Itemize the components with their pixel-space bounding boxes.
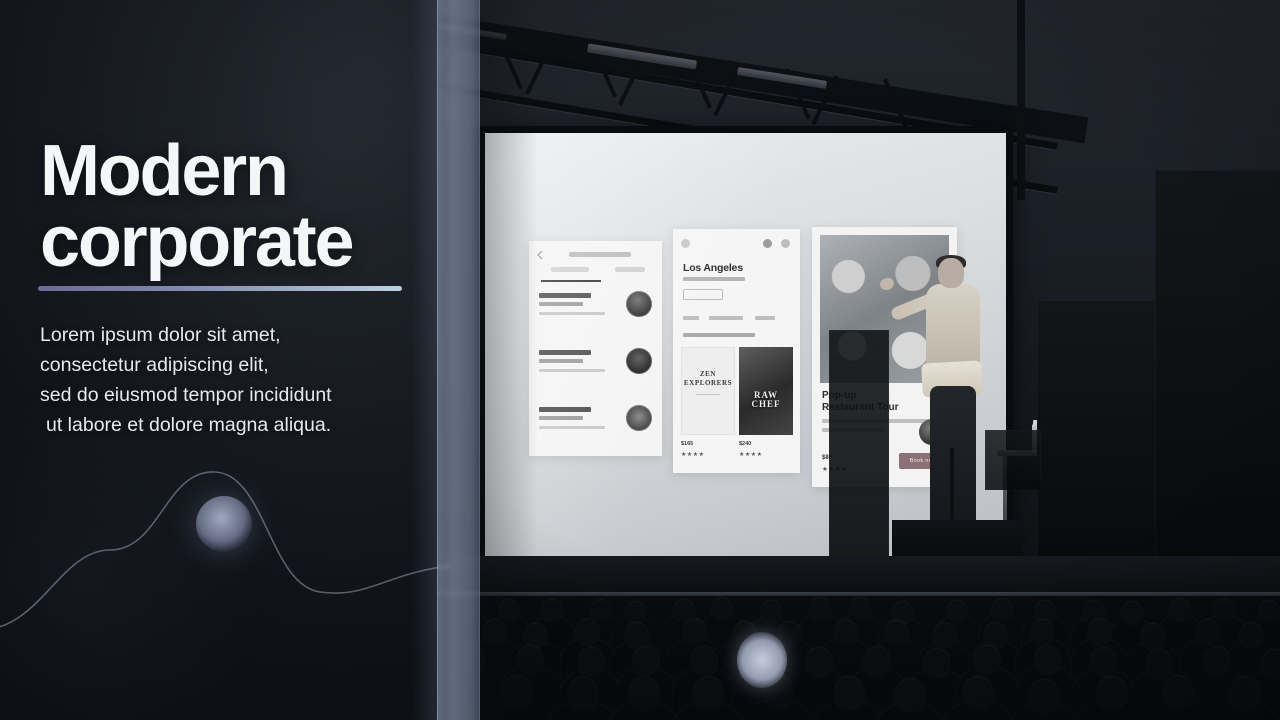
audience-member-head (674, 600, 694, 622)
avatar (626, 348, 652, 374)
avatar (626, 291, 652, 317)
audience-member-head (761, 601, 781, 623)
audience-member-head (933, 623, 956, 649)
chevron-left-icon (537, 250, 543, 260)
stage-monitor (985, 430, 1041, 490)
glass-panel-divider (437, 0, 480, 720)
stage-equipment (1037, 300, 1157, 600)
mock-card-rating: ★★★★ (739, 451, 763, 458)
audience-member-head (591, 600, 611, 622)
audience-member-head (1097, 677, 1127, 711)
audience-member-head (895, 679, 925, 713)
text-panel: Modern corporate Lorem ipsum dolor sit a… (0, 0, 437, 720)
audience-member-head (576, 620, 599, 646)
audience-member-head (1259, 601, 1279, 623)
mock-section-label (683, 333, 755, 337)
audience-member-head (963, 677, 993, 711)
audience-member-head (864, 647, 890, 676)
mock-city-name: Los Angeles (683, 262, 743, 274)
wave-decoration (0, 440, 450, 700)
mock-card-price: $165 (681, 441, 693, 447)
audience-member-head (1204, 647, 1230, 676)
audience-member-head (578, 648, 604, 677)
audience-member-head (1122, 602, 1142, 624)
back-icon (681, 239, 690, 248)
audience-member-head (517, 646, 543, 675)
mock-tab-upcoming (551, 267, 589, 272)
audience-member-head (1240, 623, 1263, 649)
audience-member-head (1196, 620, 1219, 646)
audience-member-head (974, 646, 1000, 675)
audience-member-head (502, 676, 532, 710)
audience-member-head (885, 621, 908, 647)
audience-member-head (712, 598, 732, 620)
page-title: Modern corporate (40, 136, 420, 279)
audience-member-head (1262, 650, 1280, 679)
mock-card-raw-chef: RAWCHEF (739, 347, 793, 435)
audience-member-head (1230, 677, 1260, 711)
audience-member-head (806, 648, 832, 677)
audience-member-head (810, 598, 830, 620)
conference-photo: Los Angeles ZENEXPLORERS RAWCHEF $165 $2… (437, 0, 1280, 720)
audience-member-head (1170, 599, 1190, 621)
mock-list-item (539, 291, 652, 339)
audience-member-head (691, 647, 717, 676)
mock-card-rating: ★★★★ (681, 451, 705, 458)
audience-member-head (947, 601, 967, 623)
audience-member-head (483, 620, 506, 646)
heart-icon (763, 239, 772, 248)
mock-tab-past (615, 267, 645, 272)
audience-member-head (1090, 648, 1116, 677)
audience-member-head (1146, 650, 1172, 679)
audience-member-head (625, 602, 645, 624)
stage-equipment (829, 330, 889, 560)
stage-equipment (1155, 170, 1280, 600)
avatar (626, 405, 652, 431)
audience-member-head (542, 600, 562, 622)
body-paragraph: Lorem ipsum dolor sit amet, consectetur … (40, 320, 430, 440)
mock-panel-city: Los Angeles ZENEXPLORERS RAWCHEF $165 $2… (673, 229, 800, 473)
audience-member-head (1141, 624, 1164, 650)
mock-card-price: $240 (739, 441, 751, 447)
audience-member-head (625, 623, 648, 649)
audience-member-head (924, 649, 950, 678)
audience-member-head (1029, 680, 1059, 714)
audience-member-head (984, 623, 1007, 649)
slide-canvas: Los Angeles ZENEXPLORERS RAWCHEF $165 $2… (0, 0, 1280, 720)
audience-member-head (683, 620, 706, 646)
bokeh-light (737, 632, 787, 688)
audience-member-head (568, 678, 598, 712)
audience-member-head (499, 600, 519, 622)
mock-panel-speakers (529, 241, 662, 456)
audience-member-head (693, 677, 723, 711)
mock-city-subtitle (683, 277, 745, 281)
audience-member-head (1088, 620, 1111, 646)
mock-city-chip (683, 289, 723, 300)
audience-member-head (834, 677, 864, 711)
audience-member-head (834, 620, 857, 646)
accent-divider (38, 286, 402, 291)
audience-member-head (1034, 646, 1060, 675)
audience (437, 596, 1280, 720)
audience-member-head (1163, 676, 1193, 710)
mock-card-zen-explorers: ZENEXPLORERS (681, 347, 735, 435)
audience-member-head (633, 647, 659, 676)
audience-member-head (850, 598, 870, 620)
audience-member-head (629, 677, 659, 711)
glow-dot (196, 496, 252, 552)
audience-member-head (1031, 620, 1054, 646)
mock-list-item (539, 405, 652, 453)
share-icon (781, 239, 790, 248)
mock-list-item (539, 348, 652, 396)
mock-tab-underline (541, 280, 601, 282)
mock-panel-title (569, 252, 631, 257)
audience-member-head (992, 599, 1012, 621)
audience-member-head (1214, 600, 1234, 622)
